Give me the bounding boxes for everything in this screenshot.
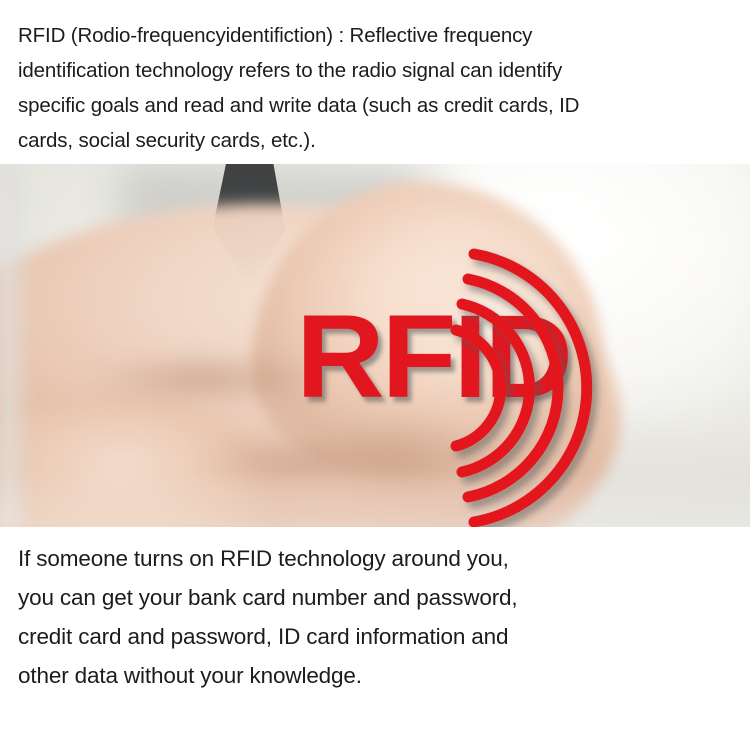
bottom-description-paragraph: If someone turns on RFID technology arou… <box>0 527 750 701</box>
top-text-line: identification technology refers to the … <box>18 53 736 88</box>
top-description-paragraph: RFID (Rodio-frequencyidentifiction) : Re… <box>0 0 750 164</box>
rfid-signal-waves-icon <box>442 238 692 527</box>
bottom-text-line: other data without your knowledge. <box>18 656 736 695</box>
top-text-line: cards, social security cards, etc.). <box>18 123 736 158</box>
top-text-line: RFID (Rodio-frequencyidentifiction) : Re… <box>18 18 736 53</box>
rfid-logo: RFID <box>296 290 696 520</box>
bottom-text-line: credit card and password, ID card inform… <box>18 617 736 656</box>
bottom-text-line: If someone turns on RFID technology arou… <box>18 539 736 578</box>
rfid-photo: RFID <box>0 164 750 527</box>
rfid-info-graphic: RFID (Rodio-frequencyidentifiction) : Re… <box>0 0 750 750</box>
top-text-line: specific goals and read and write data (… <box>18 88 736 123</box>
bottom-text-line: you can get your bank card number and pa… <box>18 578 736 617</box>
